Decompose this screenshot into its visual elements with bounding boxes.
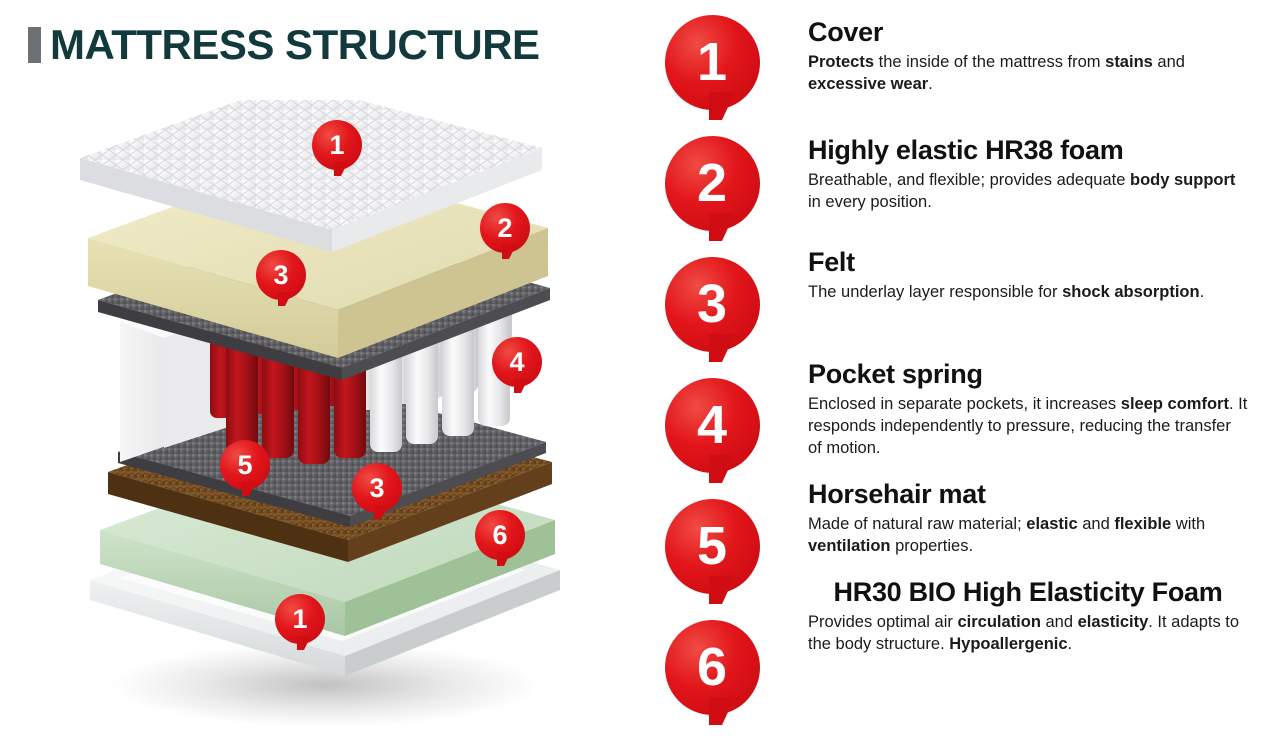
emphasis-text: circulation [957,613,1040,631]
legend-pin-number: 2 [665,136,760,231]
legend-pin-number: 6 [665,620,760,715]
illus-badge-3b-number: 3 [352,463,402,513]
illus-badge-5-number: 5 [220,440,270,490]
illus-badge-1a[interactable]: 1 [312,120,362,170]
legend-item-6: HR30 BIO High Elasticity FoamProvides op… [808,578,1248,656]
legend-pin-number: 5 [665,499,760,594]
illus-badge-4-number: 4 [492,337,542,387]
legend-item-heading: Pocket spring [808,360,1248,389]
legend-item-description: Enclosed in separate pockets, it increas… [808,394,1248,460]
legend-item-1: CoverProtects the inside of the mattress… [808,18,1248,96]
legend-item-description: Breathable, and flexible; provides adequ… [808,170,1248,214]
page-title: MATTRESS STRUCTURE [28,24,540,66]
legend-item-description: Protects the inside of the mattress from… [808,52,1248,96]
legend-item-heading: Cover [808,18,1248,47]
body-text: and [1078,515,1115,533]
legend-pin-number: 1 [665,15,760,110]
legend-item-4: Pocket springEnclosed in separate pocket… [808,360,1248,460]
legend-item-description: Provides optimal air circulation and ela… [808,612,1248,656]
illus-badge-1b-number: 1 [275,594,325,644]
legend-item-heading: HR30 BIO High Elasticity Foam [808,578,1248,607]
illus-badge-3a-number: 3 [256,250,306,300]
legend-pin-1[interactable]: 1 [665,15,760,110]
illus-badge-2[interactable]: 2 [480,203,530,253]
emphasis-text: excessive wear [808,75,928,93]
body-text: Enclosed in separate pockets, it increas… [808,395,1121,413]
body-text: in every position. [808,193,932,211]
legend-pin-3[interactable]: 3 [665,257,760,352]
body-text: . [1068,635,1073,653]
emphasis-text: stains [1105,53,1153,71]
illus-badge-6-number: 6 [475,510,525,560]
emphasis-text: sleep comfort [1121,395,1229,413]
legend-pin-2[interactable]: 2 [665,136,760,231]
emphasis-text: Protects [808,53,874,71]
legend-pin-6[interactable]: 6 [665,620,760,715]
legend-item-5: Horsehair matMade of natural raw materia… [808,480,1248,558]
mattress-layers-svg [60,100,630,730]
emphasis-text: elasticity [1078,613,1149,631]
illus-badge-4[interactable]: 4 [492,337,542,387]
body-text: Breathable, and flexible; provides adequ… [808,171,1130,189]
illus-badge-6[interactable]: 6 [475,510,525,560]
legend-pin-number: 4 [665,378,760,473]
body-text: and [1153,53,1185,71]
legend-pin-number: 3 [665,257,760,352]
legend-pin-4[interactable]: 4 [665,378,760,473]
legend-item-heading: Horsehair mat [808,480,1248,509]
emphasis-text: body support [1130,171,1235,189]
emphasis-text: shock absorption [1062,283,1200,301]
exploded-mattress-illustration: 1 2 3 4 5 [60,100,630,730]
legend-item-description: The underlay layer responsible for shock… [808,282,1248,304]
body-text: Provides optimal air [808,613,957,631]
page-title-text: MATTRESS STRUCTURE [50,24,540,66]
illus-badge-2-number: 2 [480,203,530,253]
illus-badge-5[interactable]: 5 [220,440,270,490]
illus-badge-3b[interactable]: 3 [352,463,402,513]
emphasis-text: flexible [1114,515,1171,533]
illus-badge-3a[interactable]: 3 [256,250,306,300]
legend-pin-5[interactable]: 5 [665,499,760,594]
body-text: properties. [891,537,974,555]
body-text: the inside of the mattress from [874,53,1105,71]
legend-list: 123456 CoverProtects the inside of the m… [650,0,1280,743]
legend-item-heading: Highly elastic HR38 foam [808,136,1248,165]
emphasis-text: elastic [1026,515,1077,533]
body-text: Made of natural raw material; [808,515,1026,533]
legend-item-heading: Felt [808,248,1248,277]
body-text: . [1200,283,1205,301]
legend-item-2: Highly elastic HR38 foamBreathable, and … [808,136,1248,214]
legend-pin-column: 123456 [650,0,780,743]
body-text: and [1041,613,1078,631]
illus-badge-1b[interactable]: 1 [275,594,325,644]
body-text: . [928,75,933,93]
infographic-root: MATTRESS STRUCTURE [0,0,1280,743]
emphasis-text: ventilation [808,537,891,555]
emphasis-text: Hypoallergenic [949,635,1067,653]
legend-item-description: Made of natural raw material; elastic an… [808,514,1248,558]
legend-item-3: FeltThe underlay layer responsible for s… [808,248,1248,304]
illus-badge-1a-number: 1 [312,120,362,170]
body-text: with [1171,515,1205,533]
body-text: The underlay layer responsible for [808,283,1062,301]
title-accent-bar [28,27,41,63]
